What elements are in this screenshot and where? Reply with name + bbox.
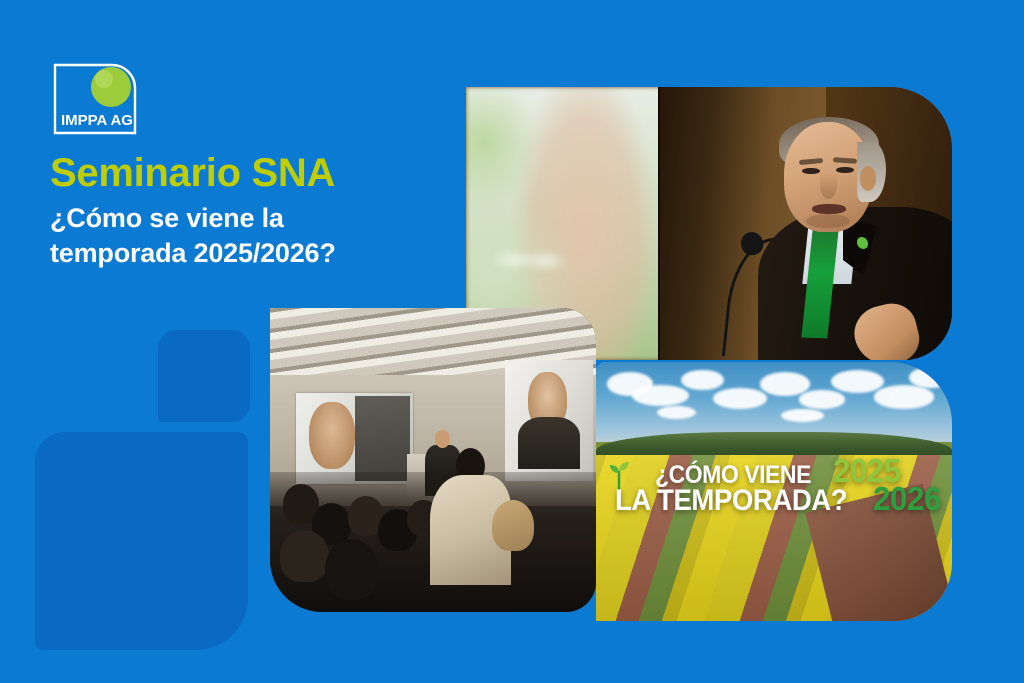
- field-overlay-season: LA TEMPORADA?: [615, 486, 847, 515]
- cloud: [874, 385, 935, 408]
- speaker-mouth: [812, 204, 846, 214]
- lapel-pin-icon: [857, 237, 868, 248]
- subtitle-line-1: ¿Cómo se viene la: [50, 201, 450, 236]
- poster-canvas: IMPPA AG IMPPA AG Seminario SNA ¿Cómo se…: [0, 0, 1024, 683]
- decorative-square-large: [35, 432, 248, 650]
- page-title: Seminario SNA: [50, 152, 450, 195]
- field-overlay-year-2026: 2026: [873, 483, 941, 515]
- audience-head: [492, 500, 534, 552]
- field-overlay-text: ¿CÓMO VIENE 2025 LA TEMPORADA? 2026: [601, 455, 952, 515]
- speaker-eye-left: [802, 168, 819, 175]
- headline-block: Seminario SNA ¿Cómo se viene la temporad…: [50, 152, 450, 271]
- speaker-chin: [806, 214, 850, 228]
- cloud: [799, 390, 845, 408]
- cloud: [781, 409, 824, 422]
- projection-screen-right-body: [518, 417, 580, 469]
- cloud: [713, 388, 766, 409]
- speaker-eye-right: [836, 167, 853, 174]
- cloud: [632, 385, 689, 406]
- audience-head: [280, 530, 329, 582]
- projection-screen-left-face: [309, 402, 355, 469]
- audience-head: [325, 539, 377, 600]
- decorative-square-small: [158, 330, 250, 422]
- presenter-head: [435, 430, 450, 448]
- cloud: [657, 406, 696, 419]
- photo-field: ¿CÓMO VIENE 2025 LA TEMPORADA? 2026: [596, 362, 952, 621]
- subtitle-line-2: temporada 2025/2026?: [50, 236, 450, 271]
- speaker-ear: [860, 166, 877, 191]
- page-subtitle: ¿Cómo se viene la temporada 2025/2026?: [50, 201, 450, 271]
- speaker-nose: [820, 172, 837, 199]
- cloud: [831, 370, 884, 393]
- cloud: [760, 372, 810, 395]
- cloud: [909, 367, 952, 388]
- seedling-blurred: [490, 243, 568, 303]
- imppa-ag-logo: IMPPA AG: [52, 62, 138, 136]
- field-overlay-line-2: LA TEMPORADA? 2026: [601, 483, 952, 515]
- photo-conference: [270, 308, 596, 612]
- logo-wordmark: IMPPA AG: [61, 112, 133, 129]
- projection-screen-left-slide: [355, 396, 410, 481]
